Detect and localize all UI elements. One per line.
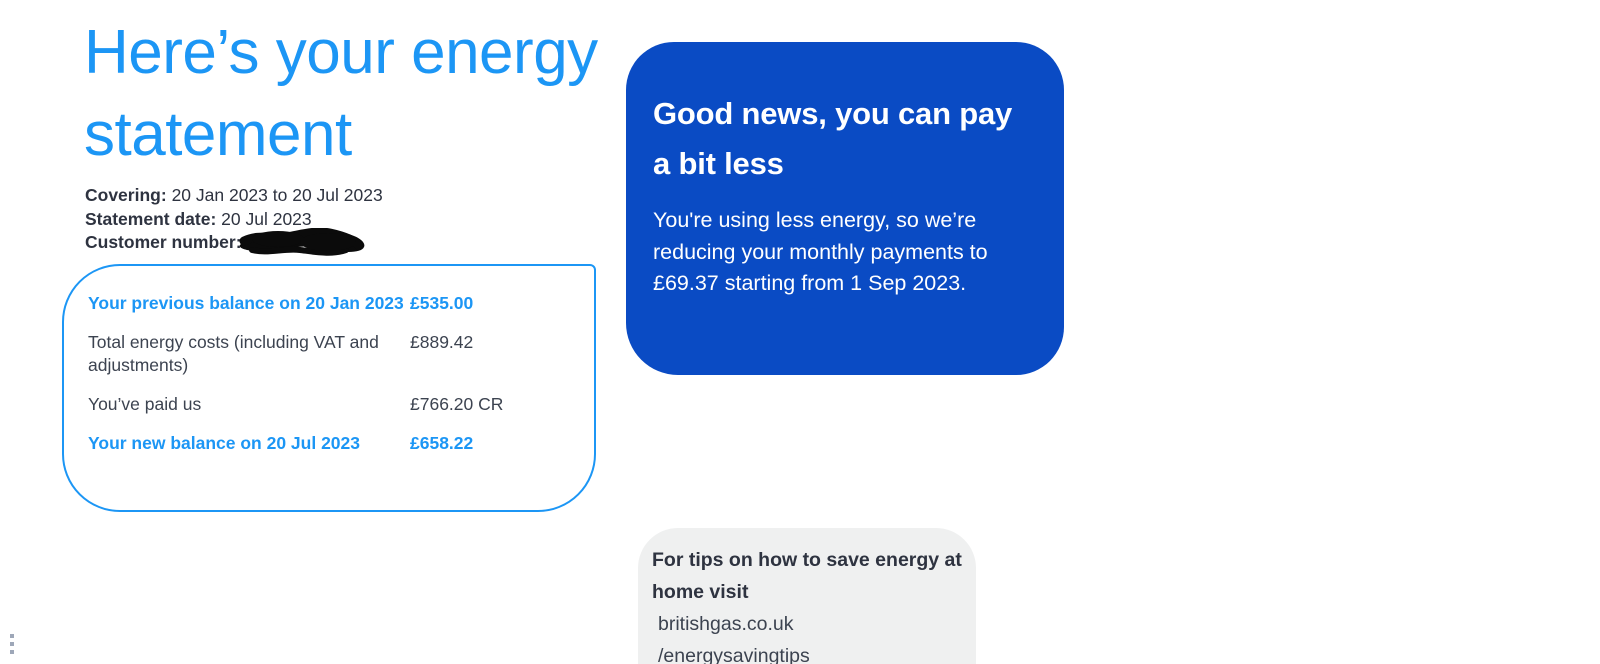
meta-customer-number-label: Customer number: bbox=[85, 232, 242, 252]
meta-statement-date: Statement date: 20 Jul 2023 bbox=[85, 208, 605, 232]
table-row: Your new balance on 20 Jul 2023 £658.22 bbox=[88, 432, 574, 455]
statement-meta: Covering: 20 Jan 2023 to 20 Jul 2023 Sta… bbox=[85, 184, 605, 255]
table-row: Your previous balance on 20 Jan 2023 £53… bbox=[88, 292, 574, 315]
balance-row-amount: £658.22 bbox=[410, 432, 473, 455]
balance-row-label: Your previous balance on 20 Jan 2023 bbox=[88, 292, 410, 315]
table-row: You’ve paid us £766.20 CR bbox=[88, 393, 574, 416]
meta-statement-date-value: 20 Jul 2023 bbox=[221, 209, 312, 229]
good-news-title: Good news, you can pay a bit less bbox=[653, 89, 1036, 189]
balance-row-label: You’ve paid us bbox=[88, 393, 410, 416]
energy-tips-card: For tips on how to save energy at home v… bbox=[638, 528, 976, 664]
good-news-card-content: Good news, you can pay a bit less You're… bbox=[653, 89, 1036, 300]
balance-row-amount: £766.20 CR bbox=[410, 393, 503, 416]
meta-covering-label: Covering: bbox=[85, 185, 167, 205]
energy-tips-content: For tips on how to save energy at home v… bbox=[652, 544, 966, 664]
energy-tips-title: For tips on how to save energy at home v… bbox=[652, 544, 966, 608]
meta-covering: Covering: 20 Jan 2023 to 20 Jul 2023 bbox=[85, 184, 605, 208]
meta-statement-date-label: Statement date: bbox=[85, 209, 216, 229]
statement-page: Here’s your energy statement Covering: 2… bbox=[0, 0, 1600, 664]
energy-tips-url-line-2[interactable]: /energysavingtips bbox=[652, 640, 966, 664]
table-row: Total energy costs (including VAT and ad… bbox=[88, 331, 574, 377]
balance-summary-box: Your previous balance on 20 Jan 2023 £53… bbox=[62, 264, 596, 512]
balance-row-label: Your new balance on 20 Jul 2023 bbox=[88, 432, 410, 455]
page-edge-artifact bbox=[10, 634, 14, 660]
balance-row-amount: £535.00 bbox=[410, 292, 473, 315]
meta-covering-value: 20 Jan 2023 to 20 Jul 2023 bbox=[172, 185, 383, 205]
balance-rows: Your previous balance on 20 Jan 2023 £53… bbox=[88, 292, 574, 455]
energy-tips-url-line-1[interactable]: britishgas.co.uk bbox=[652, 608, 966, 640]
balance-row-amount: £889.42 bbox=[410, 331, 473, 354]
good-news-card: Good news, you can pay a bit less You're… bbox=[626, 42, 1064, 375]
good-news-body: You're using less energy, so we’re reduc… bbox=[653, 205, 1036, 300]
balance-row-label: Total energy costs (including VAT and ad… bbox=[88, 331, 410, 377]
meta-customer-number: Customer number: bbox=[85, 231, 605, 255]
